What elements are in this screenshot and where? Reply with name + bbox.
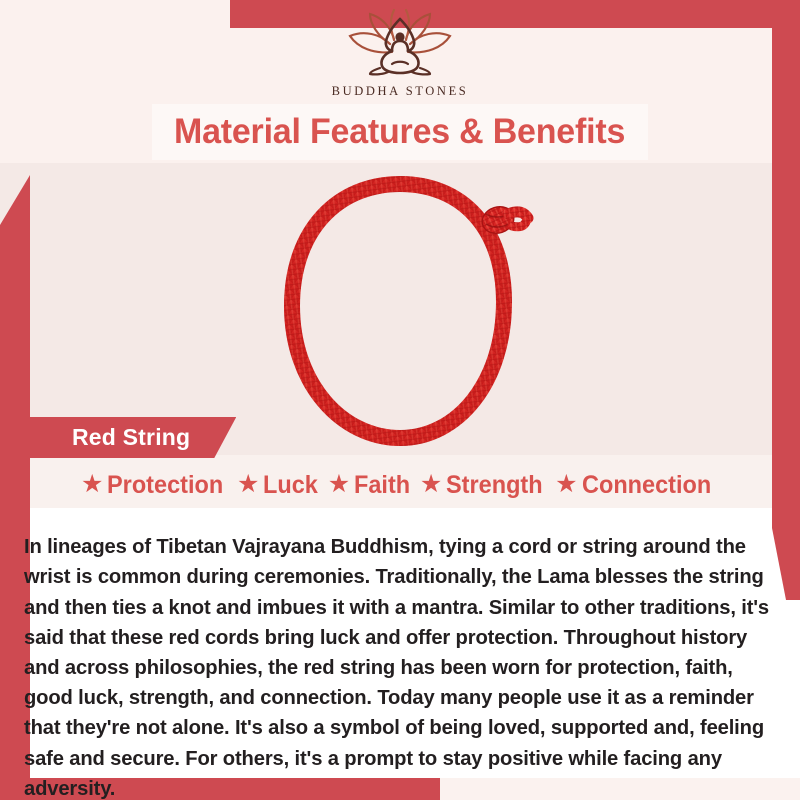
feature-list: ★ Protection ★ Luck ★ Faith ★ Strength ★… <box>0 466 800 504</box>
star-icon: ★ <box>328 472 350 497</box>
feature-label-faith: Faith <box>354 471 410 500</box>
star-icon: ★ <box>81 472 103 497</box>
description-text: In lineages of Tibetan Vajrayana Buddhis… <box>24 532 776 800</box>
lotus-meditation-icon <box>330 8 470 82</box>
feature-item-protection: ★ Protection <box>81 471 231 500</box>
star-icon: ★ <box>420 472 442 497</box>
feature-label-strength: Strength <box>446 471 543 500</box>
star-icon: ★ <box>237 472 259 497</box>
feature-label-protection: Protection <box>107 471 223 500</box>
product-label: Red String <box>72 424 190 451</box>
red-string-bracelet-illustration <box>250 170 550 460</box>
title-banner: Material Features & Benefits <box>152 104 648 160</box>
feature-label-luck: Luck <box>263 471 318 500</box>
feature-item-connection: ★ Connection <box>555 471 719 500</box>
brand-logo: BUDDHA STONES <box>0 8 800 99</box>
feature-item-luck: ★ Luck <box>237 471 322 500</box>
feature-item-faith: ★ Faith <box>328 471 414 500</box>
infographic-page: BUDDHA STONES Material Features & Benefi… <box>0 0 800 800</box>
brand-name: BUDDHA STONES <box>0 84 800 99</box>
star-icon: ★ <box>555 472 577 497</box>
page-title: Material Features & Benefits <box>174 112 625 152</box>
product-label-banner: Red String <box>30 417 236 458</box>
feature-label-connection: Connection <box>582 471 711 500</box>
feature-item-strength: ★ Strength <box>420 471 549 500</box>
